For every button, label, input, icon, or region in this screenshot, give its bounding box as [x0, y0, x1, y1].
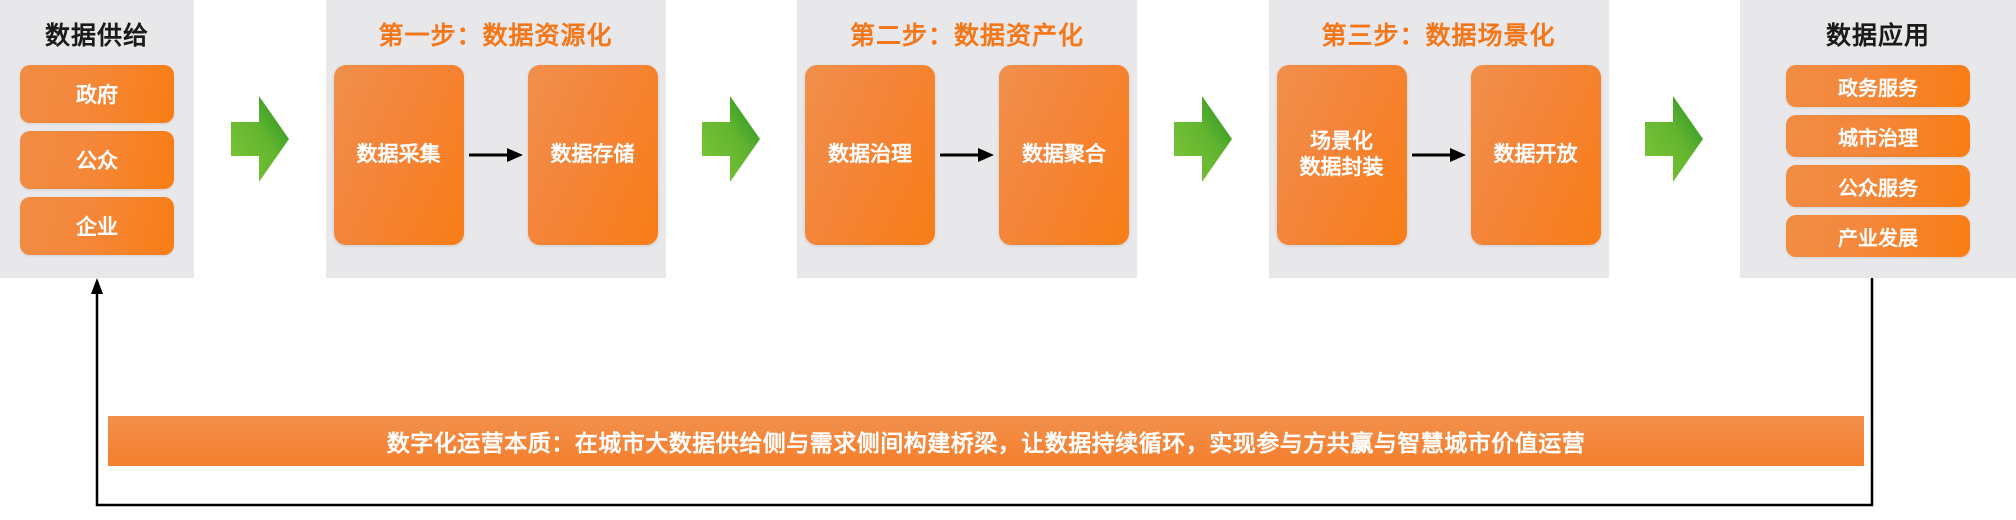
step-1-box-row: 数据采集 数据存储	[334, 65, 658, 245]
step-box-data-collection[interactable]: 数据采集	[334, 65, 464, 245]
step-box-data-opening[interactable]: 数据开放	[1471, 65, 1601, 245]
panel-title-data-application: 数据应用	[1826, 24, 1930, 49]
green-chevron-arrow-icon-4	[1645, 96, 1703, 182]
panel-title-step-2: 第二步：数据资产化	[850, 24, 1084, 49]
application-item-public-service[interactable]: 公众服务	[1786, 165, 1970, 207]
flow-gap-2	[666, 0, 798, 278]
step-1-connector	[464, 65, 528, 245]
application-item-list: 政务服务 城市治理 公众服务 产业发展	[1786, 65, 1970, 257]
feedback-loop-arrow-icon	[0, 270, 2016, 520]
summary-banner: 数字化运营本质：在城市大数据供给侧与需求侧间构建桥梁，让数据持续循环，实现参与方…	[108, 416, 1864, 466]
step-box-data-storage[interactable]: 数据存储	[528, 65, 658, 245]
step-box-scenario-line-1: 场景化	[1310, 130, 1373, 153]
green-chevron-arrow-icon-2	[702, 96, 760, 182]
panel-data-application: 数据应用 政务服务 城市治理 公众服务 产业发展	[1740, 0, 2016, 278]
supply-item-government[interactable]: 政府	[20, 65, 174, 123]
panel-step-1: 第一步：数据资源化 数据采集 数据存储	[326, 0, 666, 278]
green-chevron-arrow-icon-3	[1174, 96, 1232, 182]
application-item-urban-governance[interactable]: 城市治理	[1786, 115, 1970, 157]
step-3-connector	[1407, 65, 1471, 245]
arrow-right-icon-1	[469, 147, 523, 163]
step-box-scenario-line-2: 数据封装	[1300, 156, 1384, 179]
panel-title-step-3: 第三步：数据场景化	[1321, 24, 1555, 49]
supply-item-list: 政府 公众 企业	[20, 65, 174, 255]
step-box-data-aggregation[interactable]: 数据聚合	[999, 65, 1129, 245]
arrow-right-icon-2	[940, 147, 994, 163]
arrow-right-icon-3	[1412, 147, 1466, 163]
flow-gap-4	[1609, 0, 1741, 278]
step-3-box-row: 场景化 数据封装 数据开放	[1277, 65, 1601, 245]
step-2-connector	[935, 65, 999, 245]
supply-item-enterprise[interactable]: 企业	[20, 197, 174, 255]
flow-gap-3	[1137, 0, 1269, 278]
panel-title-data-supply: 数据供给	[45, 24, 149, 49]
step-box-scenario-data-packaging[interactable]: 场景化 数据封装	[1277, 65, 1407, 245]
green-chevron-arrow-icon-1	[231, 96, 289, 182]
pipeline-row: 数据供给 政府 公众 企业 第一步：数据资源化 数据采集	[0, 0, 2016, 278]
summary-banner-text: 数字化运营本质：在城市大数据供给侧与需求侧间构建桥梁，让数据持续循环，实现参与方…	[387, 424, 1586, 458]
panel-step-2: 第二步：数据资产化 数据治理 数据聚合	[797, 0, 1137, 278]
panel-data-supply: 数据供给 政府 公众 企业	[0, 0, 194, 278]
panel-step-3: 第三步：数据场景化 场景化 数据封装 数据开放	[1269, 0, 1609, 278]
flow-gap-1	[194, 0, 326, 278]
supply-item-public[interactable]: 公众	[20, 131, 174, 189]
step-2-box-row: 数据治理 数据聚合	[805, 65, 1129, 245]
application-item-government-service[interactable]: 政务服务	[1786, 65, 1970, 107]
application-item-industry-development[interactable]: 产业发展	[1786, 215, 1970, 257]
step-box-data-governance[interactable]: 数据治理	[805, 65, 935, 245]
panel-title-step-1: 第一步：数据资源化	[378, 24, 612, 49]
